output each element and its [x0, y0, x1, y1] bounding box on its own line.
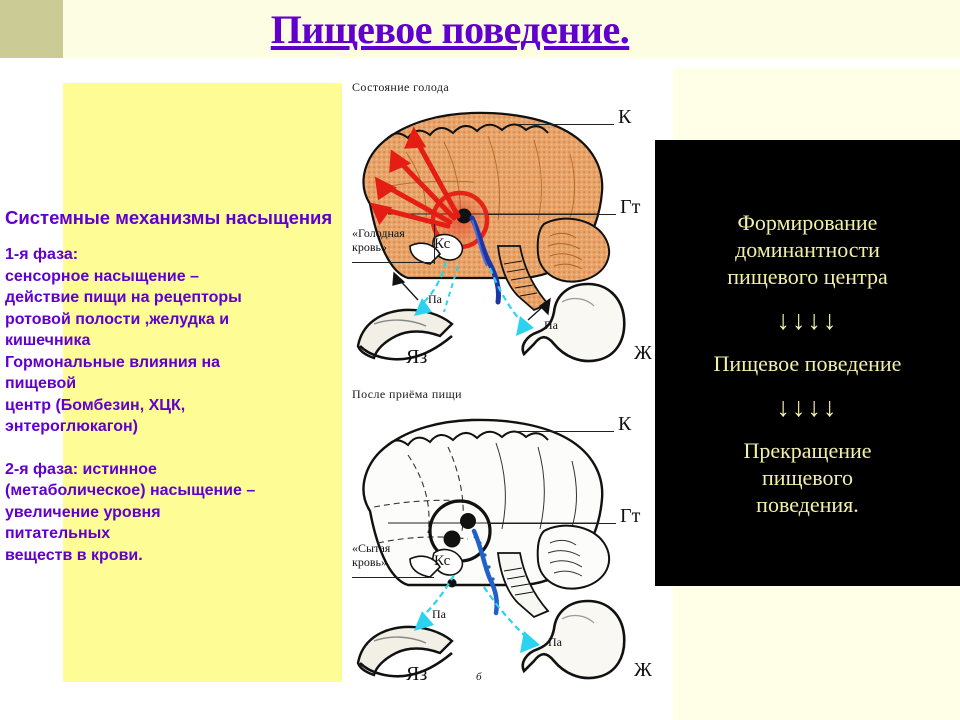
conclusion-line-4: Пищевое поведение	[714, 350, 902, 377]
hormones-line3: центр (Бомбезин, ХЦК,	[5, 395, 353, 417]
label-hypothalamus-satiety: Гт	[620, 505, 640, 528]
label-hypothalamus-hunger: Гт	[620, 196, 640, 219]
digestive-illustration-hunger	[348, 258, 668, 376]
phase2-line1: 2-я фаза: истинное	[5, 459, 353, 481]
phase1-line1: сенсорное насыщение –	[5, 266, 353, 288]
page-title: Пищевое поведение.	[271, 8, 629, 52]
diagram-hunger: Состояние голода	[348, 78, 668, 368]
down-arrows-icon-1: ↓↓↓↓	[777, 303, 839, 337]
label-stomach-hunger: Ж	[634, 342, 652, 365]
label-pa-left-hunger: Па	[428, 292, 442, 307]
slide-root: Пищевое поведение. Системные механизмы н…	[0, 0, 960, 720]
label-panel-b: б	[476, 671, 482, 683]
leader-line-cortex-satiety	[516, 431, 614, 432]
label-hungry-blood: «Голодная кровь»	[352, 226, 430, 254]
left-body: 1-я фаза: сенсорное насыщение – действие…	[5, 244, 353, 566]
conclusion-panel: Формирование доминантности пищевого цент…	[655, 140, 960, 586]
phase2-line2: (метаболическое) насыщение –	[5, 480, 353, 502]
phase2-line5: веществ в крови.	[5, 545, 353, 567]
phase2-line4: питательных	[5, 523, 353, 545]
digestive-illustration-satiety	[348, 575, 668, 693]
label-pa-left-satiety: Па	[432, 607, 446, 622]
label-ks-hunger: Кс	[434, 236, 450, 253]
conclusion-line-5: Прекращение	[743, 437, 871, 464]
phase1-line4: кишечника	[5, 330, 353, 352]
label-pa-right-satiety: Па	[548, 635, 562, 650]
page-title-container: Пищевое поведение.	[0, 8, 900, 52]
conclusion-line-1: Формирование	[738, 209, 878, 236]
diagram-satiety-caption: После приёма пищи	[352, 387, 462, 402]
diagram-hunger-caption: Состояние голода	[352, 80, 449, 95]
label-stomach-satiety: Ж	[634, 659, 652, 682]
down-arrows-icon-2: ↓↓↓↓	[777, 390, 839, 424]
hormones-line2: пищевой	[5, 373, 353, 395]
phase2-line3: увеличение уровня	[5, 502, 353, 524]
leader-line-hypothalamus-satiety	[488, 523, 616, 524]
left-heading: Системные механизмы насыщения	[5, 206, 353, 230]
phase1-label: 1-я фаза:	[5, 244, 353, 266]
label-tongue-satiety: Яз	[406, 663, 427, 686]
conclusion-line-7: поведения.	[756, 491, 859, 518]
label-tongue-hunger: Яз	[406, 346, 427, 369]
left-text-column: Системные механизмы насыщения 1-я фаза: …	[5, 206, 353, 566]
conclusion-line-2: доминантности	[735, 236, 880, 263]
phase1-line3: ротовой полости ,желудка и	[5, 309, 353, 331]
label-ks-satiety: Кс	[434, 553, 450, 570]
decor-white-strip	[0, 58, 960, 68]
hormones-line1: Гормональные влияния на	[5, 352, 353, 374]
text-spacer	[5, 438, 353, 459]
conclusion-line-6: пищевого	[762, 464, 853, 491]
label-cortex-satiety: К	[618, 413, 631, 436]
leader-line-cortex	[516, 124, 614, 125]
hormones-line4: энтероглюкагон)	[5, 416, 353, 438]
leader-line-hypothalamus	[488, 214, 616, 215]
conclusion-line-3: пищевого центра	[727, 263, 887, 290]
label-satiated-blood: «Сытая кровь»	[352, 541, 424, 569]
phase1-line2: действие пищи на рецепторы	[5, 287, 353, 309]
diagram-satiety: После приёма пищи	[348, 385, 668, 685]
label-pa-right-hunger: Па	[544, 318, 558, 333]
label-cortex-hunger: К	[618, 106, 631, 129]
